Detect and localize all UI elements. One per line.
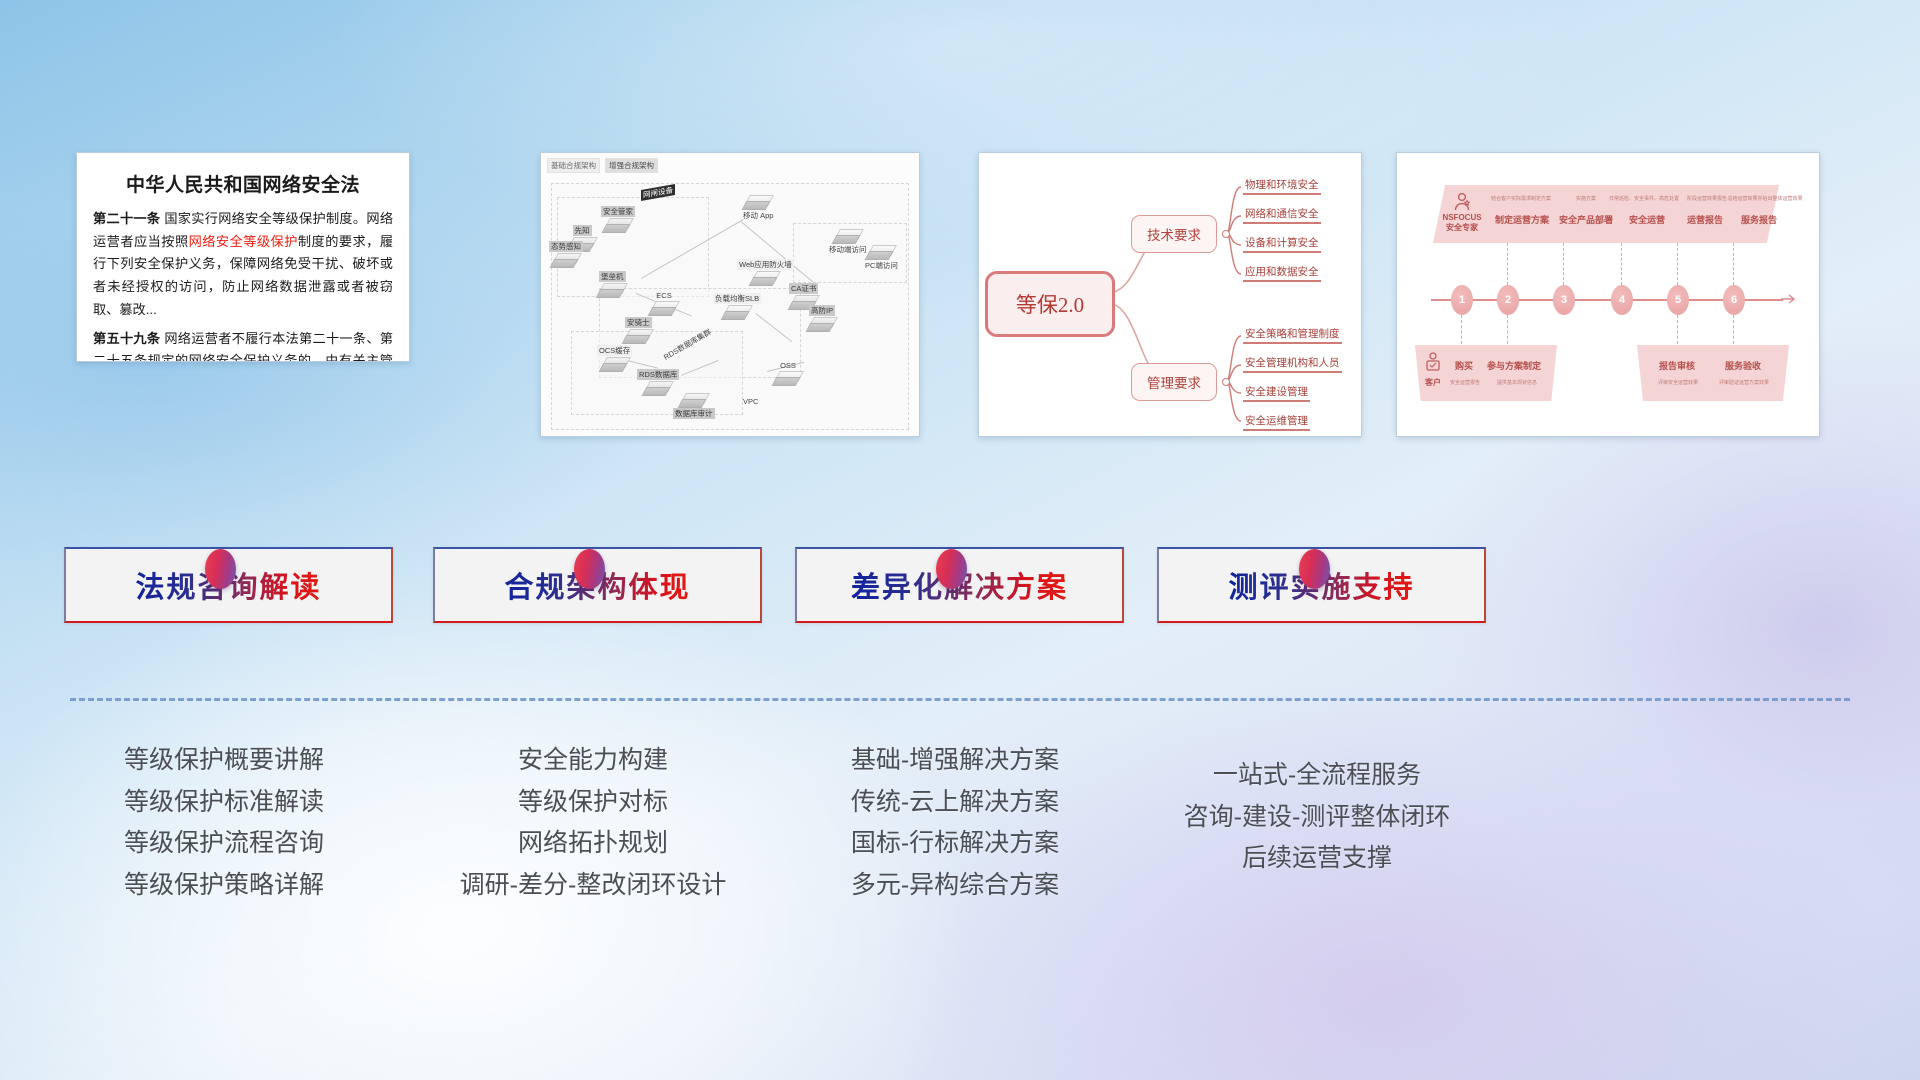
list-item: 后续运营支撑	[1157, 838, 1477, 880]
list-item: 等级保护策略详解	[64, 865, 384, 907]
list-item: 调研-差分-整改闭环设计	[433, 865, 753, 907]
list-item: 等级保护流程咨询	[64, 823, 384, 865]
list-item: 等级保护标准解读	[64, 782, 384, 824]
list-item: 等级保护概要讲解	[64, 740, 384, 782]
list-item: 咨询-建设-测评整体闭环	[1157, 797, 1477, 839]
list-item: 一站式-全流程服务	[1157, 755, 1477, 797]
list-column-2: 安全能力构建 等级保护对标 网络拓扑规划 调研-差分-整改闭环设计	[433, 740, 753, 906]
list-item: 网络拓扑规划	[433, 823, 753, 865]
list-item: 安全能力构建	[433, 740, 753, 782]
list-item: 等级保护对标	[433, 782, 753, 824]
list-item: 国标-行标解决方案	[795, 823, 1115, 865]
bottom-lists: 等级保护概要讲解 等级保护标准解读 等级保护流程咨询 等级保护策略详解 安全能力…	[0, 0, 1920, 1080]
list-column-1: 等级保护概要讲解 等级保护标准解读 等级保护流程咨询 等级保护策略详解	[64, 740, 384, 906]
list-column-4: 一站式-全流程服务 咨询-建设-测评整体闭环 后续运营支撑	[1157, 755, 1477, 880]
list-item: 传统-云上解决方案	[795, 782, 1115, 824]
list-item: 基础-增强解决方案	[795, 740, 1115, 782]
list-item: 多元-异构综合方案	[795, 865, 1115, 907]
list-column-3: 基础-增强解决方案 传统-云上解决方案 国标-行标解决方案 多元-异构综合方案	[795, 740, 1115, 906]
